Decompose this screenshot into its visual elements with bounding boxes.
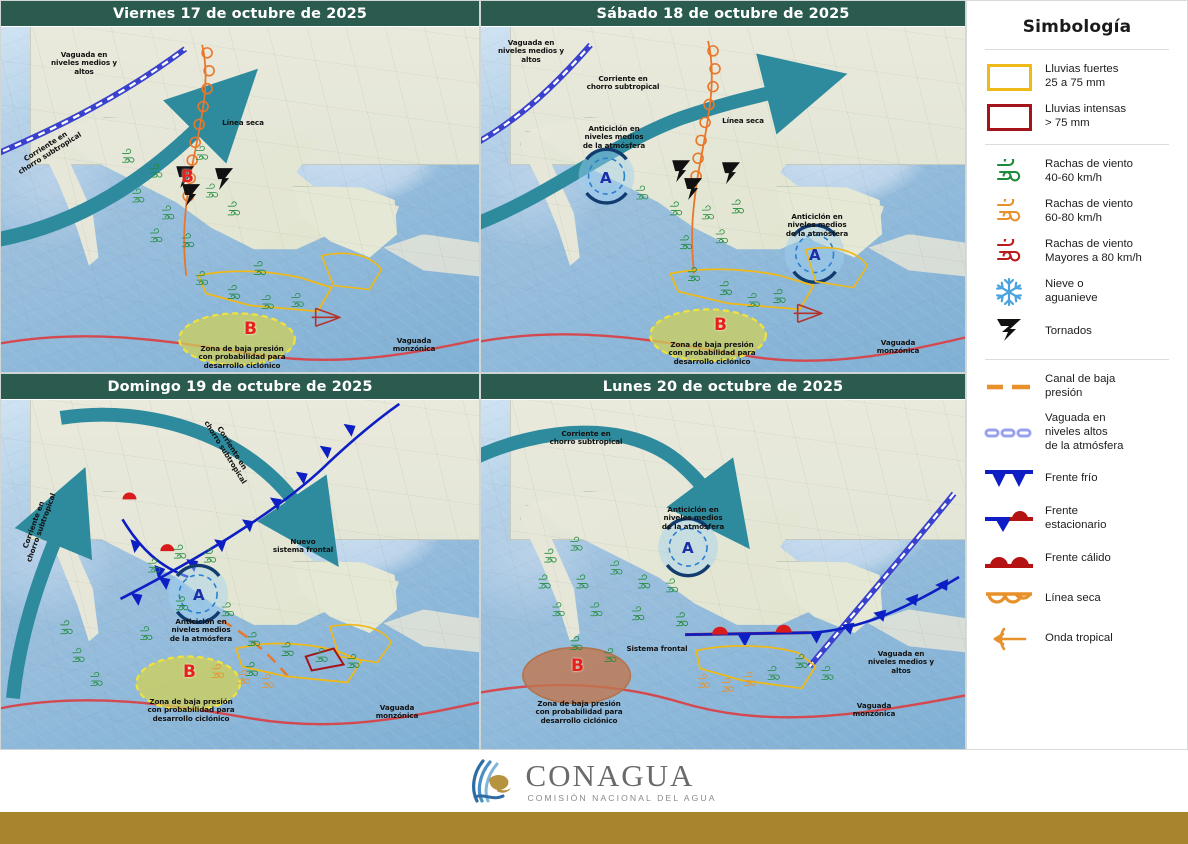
legend-item-frente-frio[interactable]: Frente frío xyxy=(979,459,1175,499)
label-zona-baja-presion: Zona de baja presión con probabilidad pa… xyxy=(647,341,777,366)
legend-divider-2 xyxy=(985,359,1169,360)
label-vaguada-monzonica: Vaguada monzónica xyxy=(381,337,447,354)
label-vaguada-altos: Vaguada en niveles medios y altos xyxy=(861,650,941,675)
panel-domingo[interactable]: Domingo 19 de octubre de 2025 xyxy=(0,373,480,750)
label-corriente-chorro: Corriente en chorro subtropical xyxy=(539,430,633,447)
low-marker-b-north: B xyxy=(181,167,194,187)
low-marker-b: B xyxy=(571,656,584,676)
legend-item-label: Canal de baja presión xyxy=(1045,373,1115,401)
label-anticiclon-gulf: Anticiclón en niveles medios de la atmós… xyxy=(769,213,865,238)
cold-front-segment xyxy=(685,577,959,635)
label-vaguada-monzonica: Vaguada monzónica xyxy=(841,702,907,719)
map-sabado[interactable]: Vaguada en niveles medios y altos Corrie… xyxy=(481,27,965,372)
map-panel-grid: Viernes 17 de octubre de 2025 xyxy=(0,0,966,750)
high-marker-a-north: A xyxy=(600,169,612,187)
label-vaguada-altos: Vaguada en niveles medios y altos xyxy=(491,39,571,64)
legend-item-nieve[interactable]: Nieve o aguanieve xyxy=(979,272,1175,312)
upper-trough-line xyxy=(810,493,954,666)
stationary-front-icon xyxy=(983,504,1035,534)
upper-level-trough-icon xyxy=(983,418,1035,448)
panel-sabado[interactable]: Sábado 18 de octubre de 2025 xyxy=(480,0,966,373)
label-zona-baja-presion: Zona de baja presión con probabilidad pa… xyxy=(513,700,645,725)
legend-item-vaguada-niveles-altos[interactable]: Vaguada en niveles altos de la atmósfera xyxy=(979,407,1175,459)
low-marker-b: B xyxy=(714,315,727,335)
low-marker-b: B xyxy=(244,319,257,339)
label-linea-seca: Línea seca xyxy=(213,119,273,127)
high-marker-a-gulf: A xyxy=(809,246,821,264)
legend-item-label: Rachas de viento Mayores a 80 km/h xyxy=(1045,238,1142,266)
warm-front-icon xyxy=(983,544,1035,574)
label-zona-baja-presion: Zona de baja presión con probabilidad pa… xyxy=(177,345,307,370)
forecast-page: Viernes 17 de octubre de 2025 xyxy=(0,0,1188,844)
tornado-markers xyxy=(672,160,740,200)
brand-footer: CONAGUA COMISIÓN NACIONAL DEL AGUA xyxy=(0,750,1188,812)
panel-title-lunes: Lunes 20 de octubre de 2025 xyxy=(481,374,965,400)
legend-item-label: Nieve o aguanieve xyxy=(1045,278,1098,306)
heavy-rain-polygon xyxy=(670,269,813,309)
tornado-icon xyxy=(983,317,1035,347)
legend-item-label: Rachas de viento 60-80 km/h xyxy=(1045,198,1133,226)
low-pressure-channel-icon xyxy=(983,372,1035,402)
tropical-wave-symbol xyxy=(794,304,822,322)
panel-lunes[interactable]: Lunes 20 de octubre de 2025 xyxy=(480,373,966,750)
panel-title-sabado: Sábado 18 de octubre de 2025 xyxy=(481,1,965,27)
cold-front-pips xyxy=(738,579,948,647)
high-marker-a: A xyxy=(682,539,694,557)
conagua-mark-icon xyxy=(471,757,515,805)
legend-item-lluvias-fuertes[interactable]: Lluvias fuertes 25 a 75 mm xyxy=(979,57,1175,97)
dryline-icon xyxy=(983,584,1035,614)
tropical-wave-icon xyxy=(983,624,1035,654)
brand-name: CONAGUA xyxy=(525,760,716,791)
wind-gust-red-icon xyxy=(983,237,1035,267)
conagua-logo: CONAGUA COMISIÓN NACIONAL DEL AGUA xyxy=(471,757,716,805)
legend-divider-top xyxy=(985,49,1169,50)
label-anticiclon: Anticiclón en niveles medios de la atmós… xyxy=(153,618,249,643)
legend-item-label: Vaguada en niveles altos de la atmósfera xyxy=(1045,412,1124,454)
legend-item-linea-seca[interactable]: Línea seca xyxy=(979,579,1175,619)
annotation-layer-viernes xyxy=(1,27,479,372)
annotation-layer-lunes xyxy=(481,400,965,749)
legend-item-label: Rachas de viento 40-60 km/h xyxy=(1045,158,1133,186)
high-marker-a: A xyxy=(193,586,205,604)
label-zona-baja-presion: Zona de baja presión con probabilidad pa… xyxy=(125,698,257,723)
low-marker-b: B xyxy=(183,662,196,682)
legend-item-onda-tropical[interactable]: Onda tropical xyxy=(979,619,1175,659)
rain-box-red-icon xyxy=(983,102,1035,132)
legend-item-canal-baja-presion[interactable]: Canal de baja presión xyxy=(979,367,1175,407)
legend-title: Simbología xyxy=(979,17,1175,37)
heavy-rain-polygon xyxy=(322,253,382,289)
label-vaguada-monzonica: Vaguada monzónica xyxy=(364,704,430,721)
legend-item-label: Frente frío xyxy=(1045,472,1098,486)
panel-viernes[interactable]: Viernes 17 de octubre de 2025 xyxy=(0,0,480,373)
label-sistema-frontal: Sistema frontal xyxy=(619,645,695,653)
label-nuevo-sistema-frontal: Nuevo sistema frontal xyxy=(266,538,340,555)
legend-item-tornados[interactable]: Tornados xyxy=(979,312,1175,352)
legend-item-rachas-60-80[interactable]: Rachas de viento 60-80 km/h xyxy=(979,192,1175,232)
rain-box-yellow-icon xyxy=(983,62,1035,92)
jet-stream-arrow-north xyxy=(61,415,300,510)
legend-divider-1 xyxy=(985,144,1169,145)
tropical-wave-symbol xyxy=(312,308,340,326)
map-viernes[interactable]: Vaguada en niveles medios y altos Corrie… xyxy=(1,27,479,372)
label-linea-seca: Línea seca xyxy=(713,117,773,125)
legend-item-label: Lluvias intensas > 75 mm xyxy=(1045,103,1126,131)
panel-title-domingo: Domingo 19 de octubre de 2025 xyxy=(1,374,479,400)
legend-item-label: Línea seca xyxy=(1045,592,1101,606)
legend-item-lluvias-intensas[interactable]: Lluvias intensas > 75 mm xyxy=(979,97,1175,137)
heavy-rain-polygon xyxy=(198,271,331,311)
wind-gust-cluster-green xyxy=(636,186,785,307)
wind-gust-green-icon xyxy=(983,157,1035,187)
wind-gust-orange-icon xyxy=(983,197,1035,227)
stationary-front-pips xyxy=(130,539,165,579)
snowflake-icon xyxy=(983,277,1035,307)
legend-item-frente-estacionario[interactable]: Frente estacionario xyxy=(979,499,1175,539)
legend-item-label: Frente cálido xyxy=(1045,552,1111,566)
legend-item-label: Tornados xyxy=(1045,325,1092,339)
legend-panel: Simbología Lluvias fuertes 25 a 75 mm Ll… xyxy=(966,0,1188,750)
label-corriente-chorro: Corriente en chorro subtropical xyxy=(577,75,669,92)
panel-title-viernes: Viernes 17 de octubre de 2025 xyxy=(1,1,479,27)
legend-item-rachas-mayores-80[interactable]: Rachas de viento Mayores a 80 km/h xyxy=(979,232,1175,272)
dryline-path xyxy=(692,41,712,274)
map-lunes[interactable]: Corriente en chorro subtropical Anticicl… xyxy=(481,400,965,749)
stationary-front-bumps xyxy=(122,492,174,551)
cold-front-icon xyxy=(983,464,1035,494)
brand-subtitle: COMISIÓN NACIONAL DEL AGUA xyxy=(525,794,716,803)
legend-item-frente-calido[interactable]: Frente cálido xyxy=(979,539,1175,579)
label-vaguada-monzonica: Vaguada monzónica xyxy=(865,339,931,356)
gold-footer-bar xyxy=(0,812,1188,844)
label-anticiclon: Anticiclón en niveles medios de la atmós… xyxy=(645,506,741,531)
label-vaguada-altos: Vaguada en niveles medios y altos xyxy=(34,51,134,76)
legend-item-rachas-40-60[interactable]: Rachas de viento 40-60 km/h xyxy=(979,152,1175,192)
legend-item-label: Onda tropical xyxy=(1045,632,1113,646)
legend-item-label: Lluvias fuertes 25 a 75 mm xyxy=(1045,63,1118,91)
map-domingo[interactable]: Corriente en chorro subtropical Corrient… xyxy=(1,400,479,749)
label-anticiclon-north: Anticiclón en niveles medios de la atmós… xyxy=(566,125,662,150)
legend-item-label: Frente estacionario xyxy=(1045,505,1106,533)
